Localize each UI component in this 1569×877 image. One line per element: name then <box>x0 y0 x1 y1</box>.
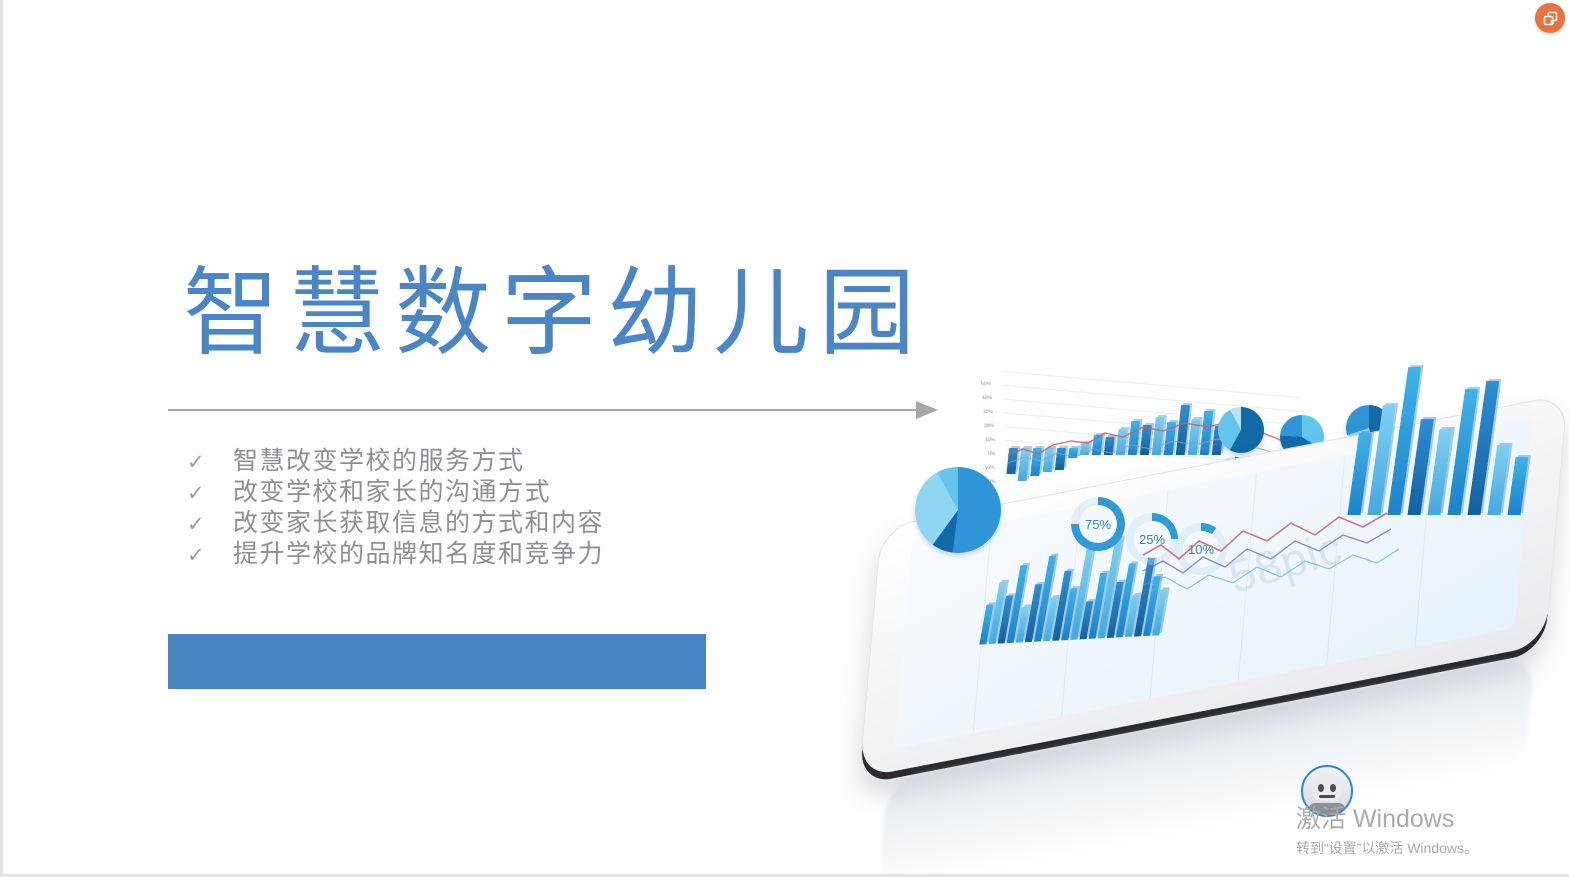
arrow-divider <box>168 398 950 424</box>
bullet-text: 提升学校的品牌知名度和竞争力 <box>233 534 604 570</box>
activation-subtitle: 转到“设置”以激活 Windows。 <box>1296 838 1566 858</box>
check-icon: ✓ <box>175 481 233 505</box>
avatar-eye-right <box>1330 784 1336 792</box>
list-item: ✓ 改变学校和家长的沟通方式 <box>175 472 604 503</box>
blue-placeholder-bar[interactable] <box>168 634 706 689</box>
list-item: ✓ 改变家长获取信息的方式和内容 <box>175 503 604 534</box>
avatar-eye-left <box>1318 784 1324 792</box>
divider-line <box>168 409 918 411</box>
activation-title: 激活 Windows <box>1296 805 1566 834</box>
duplicate-windows-icon <box>1542 10 1559 27</box>
bullet-list: ✓ 智慧改变学校的服务方式 ✓ 改变学校和家长的沟通方式 ✓ 改变家长获取信息的… <box>175 441 604 565</box>
tablet-data-visualization-image: 50% 40% 30% 20% 10% 0% -10% -20% -30% <box>843 345 1569 765</box>
screen-trend-lines <box>843 345 1569 765</box>
list-item: ✓ 智慧改变学校的服务方式 <box>175 441 604 472</box>
avatar-mouth <box>1319 795 1335 798</box>
list-item: ✓ 提升学校的品牌知名度和竞争力 <box>175 534 604 565</box>
check-icon: ✓ <box>175 450 233 474</box>
check-icon: ✓ <box>175 512 233 536</box>
slide-title: 智慧数字幼儿园 <box>183 262 925 366</box>
windows-activation-watermark: 激活 Windows 转到“设置”以激活 Windows。 <box>1296 805 1566 858</box>
check-icon: ✓ <box>175 543 233 567</box>
screen-recorder-badge[interactable] <box>1535 3 1565 33</box>
presentation-slide[interactable]: 智慧数字幼儿园 ✓ 智慧改变学校的服务方式 ✓ 改变学校和家长的沟通方式 ✓ 改… <box>0 0 1569 877</box>
